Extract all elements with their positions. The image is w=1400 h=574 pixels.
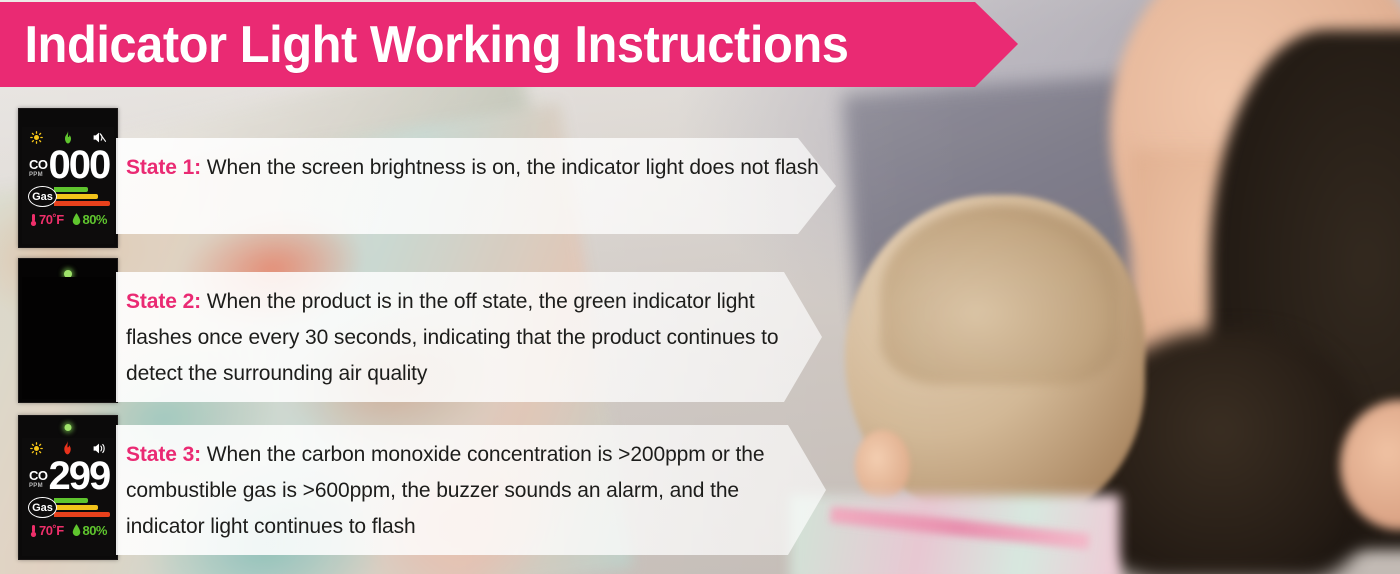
gas-bar-red-3 <box>54 512 110 517</box>
gas-bar-yellow-3 <box>54 505 98 510</box>
state-description-3: State 3: When the carbon monoxide concen… <box>116 437 826 545</box>
device-gas-reading-3: Gas <box>26 497 110 518</box>
temperature-value-1: 70˚F <box>39 212 64 227</box>
temperature-value-3: 70˚F <box>39 523 64 538</box>
gas-bar-green-3 <box>54 498 88 503</box>
state-body-2: When the product is in the off state, th… <box>126 290 778 385</box>
title-banner: Indicator Light Working Instructions <box>0 2 1018 87</box>
state-label-2: State 2: <box>126 290 201 313</box>
state-label-1: State 1: <box>126 156 201 179</box>
device-screen-state-3: CO PPM 299 Gas 70 <box>18 415 118 560</box>
device-env-readings-1: 70˚F 80% <box>26 212 110 227</box>
humidity-value-3: 80% <box>82 523 107 538</box>
sun-icon <box>30 131 43 148</box>
state-label-3: State 3: <box>126 443 201 466</box>
device-screen-state-1: CO PPM 000 Gas 70 <box>18 108 118 248</box>
device-co-reading-1: CO PPM 000 <box>26 148 110 183</box>
device-co-reading-3: CO PPM 299 <box>26 459 110 494</box>
co-value-3: 299 <box>49 459 110 494</box>
device-display-2 <box>22 277 114 399</box>
page-title: Indicator Light Working Instructions <box>0 15 848 75</box>
humidity-group-3: 80% <box>72 523 107 538</box>
temperature-group-1: 70˚F <box>29 212 64 227</box>
state-text-panel-1: State 1: When the screen brightness is o… <box>116 138 836 234</box>
sun-icon <box>30 442 43 459</box>
co-value-1: 000 <box>49 148 110 183</box>
water-drop-icon <box>72 213 81 226</box>
co-label-3: CO <box>29 469 48 482</box>
thermometer-icon <box>29 524 38 538</box>
state-description-2: State 2: When the product is in the off … <box>116 284 822 392</box>
state-body-1: When the screen brightness is on, the in… <box>201 156 819 179</box>
device-display-3: CO PPM 299 Gas 70 <box>22 438 114 556</box>
state-body-3: When the carbon monoxide concentration i… <box>126 443 764 538</box>
gas-bar-chart-3 <box>54 498 110 517</box>
gas-label-1: Gas <box>28 186 57 207</box>
co-units-1: PPM <box>29 172 48 178</box>
co-label-group-1: CO PPM <box>29 158 48 178</box>
humidity-value-1: 80% <box>82 212 107 227</box>
thermometer-icon <box>29 213 38 227</box>
co-label-1: CO <box>29 158 48 171</box>
device-env-readings-3: 70˚F 80% <box>26 523 110 538</box>
led-indicator-3 <box>65 424 72 431</box>
gas-bar-chart-1 <box>54 187 110 206</box>
state-text-panel-3: State 3: When the carbon monoxide concen… <box>116 425 826 555</box>
device-display-1: CO PPM 000 Gas 70 <box>22 127 114 244</box>
co-units-3: PPM <box>29 483 48 489</box>
gas-bar-yellow-1 <box>54 194 98 199</box>
gas-bar-red-1 <box>54 201 110 206</box>
state-text-panel-2: State 2: When the product is in the off … <box>116 272 822 402</box>
device-gas-reading-1: Gas <box>26 186 110 207</box>
co-label-group-3: CO PPM <box>29 469 48 489</box>
temperature-group-3: 70˚F <box>29 523 64 538</box>
gas-bar-green-1 <box>54 187 88 192</box>
humidity-group-1: 80% <box>72 212 107 227</box>
water-drop-icon <box>72 524 81 537</box>
device-screen-state-2 <box>18 258 118 403</box>
state-description-1: State 1: When the screen brightness is o… <box>116 150 836 186</box>
gas-label-3: Gas <box>28 497 57 518</box>
